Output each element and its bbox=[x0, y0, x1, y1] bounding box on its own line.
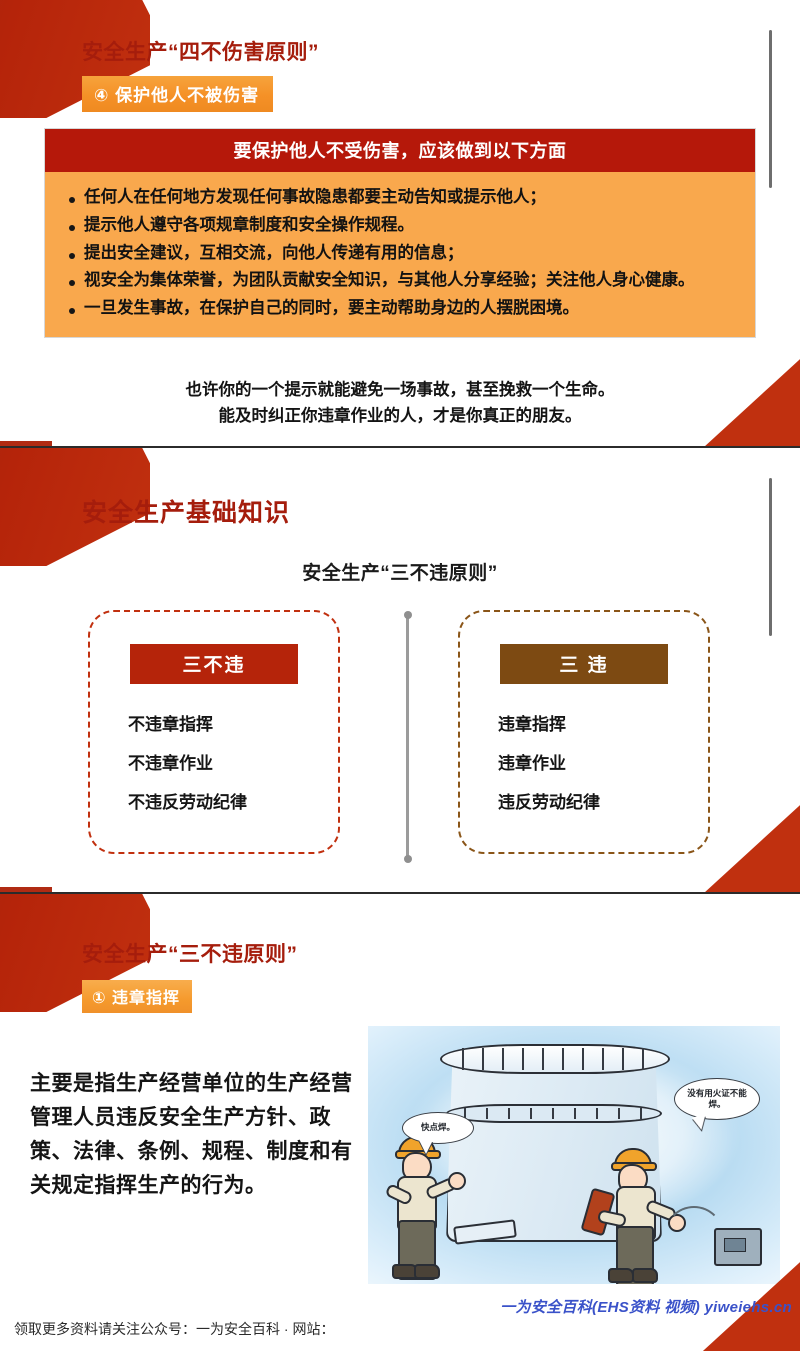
speech-bubble-left: 快点焊。 bbox=[402, 1112, 474, 1144]
closing-note-line-1: 也许你的一个提示就能避免一场事故，甚至挽救一个生命。 bbox=[0, 378, 800, 404]
panel-header: 要保护他人不受伤害，应该做到以下方面 bbox=[45, 129, 755, 172]
tank-rim bbox=[440, 1044, 670, 1074]
card-heading: 三不违 bbox=[130, 644, 298, 684]
list-item: 提示他人遵守各项规章制度和安全操作规程。 bbox=[63, 214, 737, 238]
illustration-welding-scene: 快点焊。 没有用火证不能焊。 bbox=[368, 1026, 780, 1284]
list-item: 视安全为集体荣誉，为团队贡献安全知识，与其他人分享经验；关注他人身心健康。 bbox=[63, 269, 737, 293]
footer-note: 领取更多资料请关注公众号：一为安全百科 · 网站： bbox=[14, 1319, 334, 1339]
list-item-label: 任何人在任何地方发现任何事故隐患都要主动告知或提示他人； bbox=[84, 186, 546, 210]
worker-boot bbox=[632, 1268, 658, 1283]
section-badge: ① 违章指挥 bbox=[82, 980, 192, 1013]
watermark: 一为安全百科(EHS资料 视频) yiweiehs.cn bbox=[500, 1296, 792, 1317]
list-item: 不违章作业 bbox=[128, 755, 247, 772]
welding-machine-icon bbox=[714, 1228, 762, 1266]
separator-tick bbox=[0, 887, 52, 892]
slide-deck: 安全生产“四不伤害原则” ④ 保护他人不被伤害 要保护他人不受伤害，应该做到以下… bbox=[0, 0, 800, 1351]
bullet-icon bbox=[69, 225, 75, 231]
card-list: 不违章指挥 不违章作业 不违反劳动纪律 bbox=[128, 716, 247, 833]
list-item-label: 视安全为集体荣誉，为团队贡献安全知识，与其他人分享经验；关注他人身心健康。 bbox=[84, 269, 695, 293]
list-item: 不违章指挥 bbox=[128, 716, 247, 733]
tank-band bbox=[446, 1104, 662, 1123]
list-item: 违章指挥 bbox=[498, 716, 600, 733]
slide-safety-basics: 安全生产基础知识 安全生产“三不违原则” 三不违 不违章指挥 不违章作业 不违反… bbox=[0, 448, 800, 894]
speech-bubble-left-text: 快点焊。 bbox=[421, 1122, 455, 1133]
slide-four-no-harm: 安全生产“四不伤害原则” ④ 保护他人不被伤害 要保护他人不受伤害，应该做到以下… bbox=[0, 0, 800, 448]
list-item: 违章作业 bbox=[498, 755, 600, 772]
column-connector bbox=[406, 616, 409, 858]
body-text: 主要是指生产经营单位的生产经营管理人员违反安全生产方针、政策、法律、条例、规程、… bbox=[30, 1067, 360, 1203]
speech-bubble-right: 没有用火证不能焊。 bbox=[674, 1078, 760, 1120]
bullet-icon bbox=[69, 280, 75, 286]
card-three-no-violations: 三不违 不违章指挥 不违章作业 不违反劳动纪律 bbox=[88, 610, 340, 854]
closing-note-line-2: 能及时纠正你违章作业的人，才是你真正的朋友。 bbox=[0, 404, 800, 430]
separator-tick bbox=[0, 441, 52, 446]
worker-boot bbox=[608, 1268, 634, 1283]
closing-note: 也许你的一个提示就能避免一场事故，甚至挽救一个生命。 能及时纠正你违章作业的人，… bbox=[0, 378, 800, 429]
list-item-label: 提出安全建议，互相交流，向他人传递有用的信息； bbox=[84, 242, 464, 266]
list-item: 任何人在任何地方发现任何事故隐患都要主动告知或提示他人； bbox=[63, 186, 737, 210]
slide-illegal-command: 安全生产“三不违原则” ① 违章指挥 主要是指生产经营单位的生产经营管理人员违反… bbox=[0, 894, 800, 1351]
panel-body: 任何人在任何地方发现任何事故隐患都要主动告知或提示他人； 提示他人遵守各项规章制… bbox=[45, 172, 755, 337]
card-three-violations: 三 违 违章指挥 违章作业 违反劳动纪律 bbox=[458, 610, 710, 854]
page-title: 安全生产“三不违原则” bbox=[82, 938, 298, 968]
bullet-icon bbox=[69, 197, 75, 203]
bullet-icon bbox=[69, 308, 75, 314]
card-heading: 三 违 bbox=[500, 644, 668, 684]
list-item: 违反劳动纪律 bbox=[498, 794, 600, 811]
list-item: 提出安全建议，互相交流，向他人传递有用的信息； bbox=[63, 242, 737, 266]
connector-dot-top bbox=[404, 611, 412, 619]
page-title: 安全生产基础知识 bbox=[82, 493, 290, 529]
speech-bubble-tail bbox=[419, 1140, 433, 1154]
list-item-label: 一旦发生事故，在保护自己的同时，要主动帮助身边的人摆脱困境。 bbox=[84, 297, 579, 321]
speech-bubble-tail bbox=[692, 1115, 709, 1132]
list-item: 不违反劳动纪律 bbox=[128, 794, 247, 811]
diagonal-line bbox=[791, 1243, 800, 1341]
worker-supervisor bbox=[386, 1136, 460, 1274]
comparison-columns: 三不违 不违章指挥 不违章作业 不违反劳动纪律 三 违 违章指挥 违章作业 违反… bbox=[0, 610, 800, 860]
worker-boot bbox=[414, 1264, 440, 1279]
page-title: 安全生产“四不伤害原则” bbox=[82, 36, 319, 66]
connector-dot-bottom bbox=[404, 855, 412, 863]
bullet-icon bbox=[69, 253, 75, 259]
card-list: 违章指挥 违章作业 违反劳动纪律 bbox=[498, 716, 600, 833]
speech-bubble-right-text: 没有用火证不能焊。 bbox=[681, 1088, 753, 1111]
worker-welder bbox=[596, 1148, 674, 1274]
list-item: 一旦发生事故，在保护自己的同时，要主动帮助身边的人摆脱困境。 bbox=[63, 297, 737, 321]
section-badge: ④ 保护他人不被伤害 bbox=[82, 76, 273, 112]
content-panel: 要保护他人不受伤害，应该做到以下方面 任何人在任何地方发现任何事故隐患都要主动告… bbox=[44, 128, 756, 338]
list-item-label: 提示他人遵守各项规章制度和安全操作规程。 bbox=[84, 214, 414, 238]
right-rail-line bbox=[769, 30, 772, 188]
worker-hand bbox=[448, 1172, 466, 1190]
page-subtitle: 安全生产“三不违原则” bbox=[0, 558, 800, 585]
